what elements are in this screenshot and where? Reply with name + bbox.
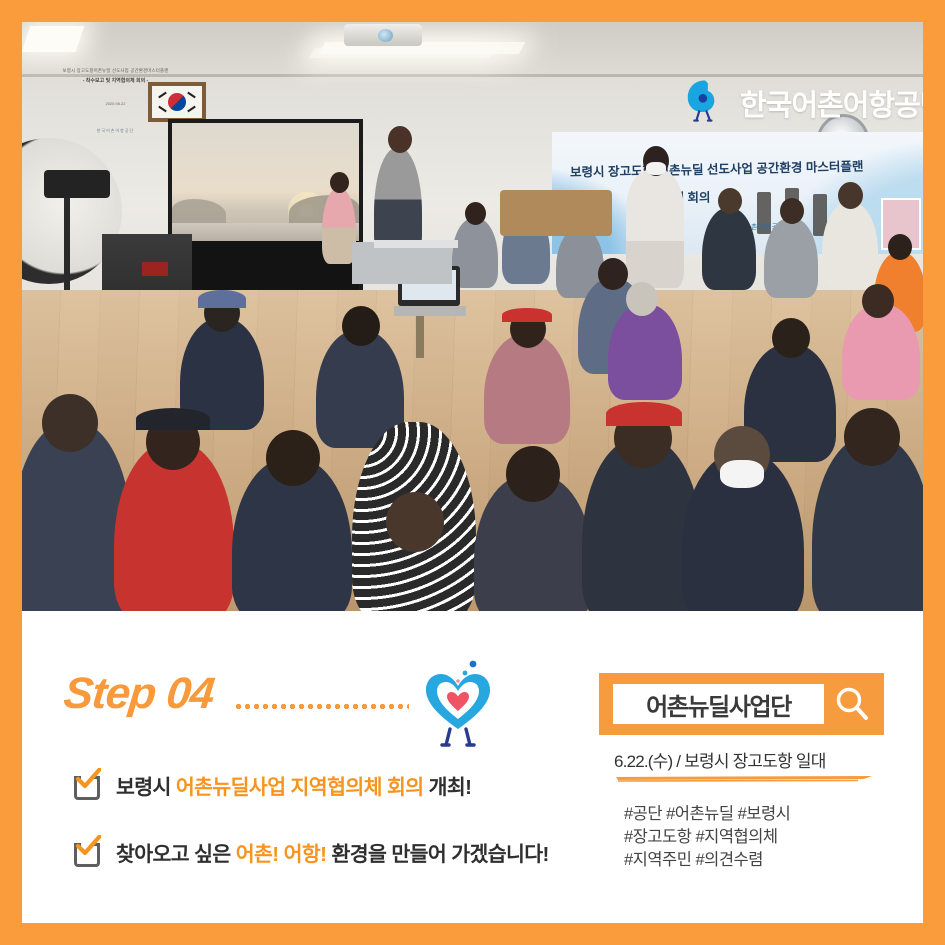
ceiling-light-mid2 bbox=[309, 48, 495, 58]
meeting-photo: 보령시 장고도항어촌뉴딜 선도사업 공간환경마스터플랜 - 착수보고 및 지역협… bbox=[22, 22, 923, 611]
cap-icon bbox=[198, 290, 246, 308]
laptop-base bbox=[394, 306, 466, 316]
bullet-item-2: 찾아오고 싶은 어촌! 어항! 환경을 만들어 가겠습니다! bbox=[72, 836, 549, 868]
search-input[interactable]: 어촌뉴딜사업단 bbox=[613, 684, 824, 724]
watermark-org-name: 한국어촌어항공단 bbox=[740, 82, 923, 124]
person-pink-shirt bbox=[322, 188, 356, 264]
korea-fisheries-logo-icon bbox=[682, 76, 728, 122]
bullet-1-part-0: 보령시 bbox=[116, 776, 176, 799]
person-head bbox=[330, 172, 349, 193]
person-seated bbox=[822, 202, 878, 288]
person-seated bbox=[702, 208, 756, 290]
poster-card: 보령시 장고도항어촌뉴딜 선도사업 공간환경마스터플랜 - 착수보고 및 지역협… bbox=[22, 22, 923, 923]
person-purple bbox=[608, 304, 682, 400]
dotted-line-divider bbox=[234, 704, 409, 709]
slide-title-line2: - 착수보고 및 지역협의체 회의 - bbox=[22, 77, 209, 84]
checkbox-checked-icon bbox=[72, 836, 102, 868]
hashtag-line-2: #장고도항 #지역협의체 bbox=[624, 826, 790, 849]
search-keyword: 어촌뉴딜사업단 bbox=[646, 687, 791, 722]
heart-character-mascot-icon bbox=[420, 659, 496, 747]
watermark-logo: 한국어촌어항공단 bbox=[674, 70, 923, 134]
ceiling-projector-icon bbox=[344, 24, 422, 46]
visor-icon bbox=[136, 408, 210, 430]
person-crowd bbox=[842, 304, 920, 400]
brush-underline-decoration bbox=[614, 773, 874, 783]
search-magnifier-icon[interactable] bbox=[834, 686, 870, 722]
person-head bbox=[388, 126, 412, 153]
bullet-text-1: 보령시 어촌뉴딜사업 지역협의체 회의 개최! bbox=[116, 770, 471, 800]
slide-title-line1: 보령시 장고도항어촌뉴딜 선도사업 공간환경마스터플랜 bbox=[22, 68, 209, 74]
step-label: Step 04 bbox=[61, 669, 216, 719]
bullet-2-part-0: 찾아오고 싶은 bbox=[116, 843, 236, 866]
bullet-item-1: 보령시 어촌뉴딜사업 지역협의체 회의 개최! bbox=[72, 769, 471, 801]
tripod-leg bbox=[416, 316, 424, 358]
table bbox=[352, 242, 452, 284]
light-head bbox=[44, 170, 110, 198]
search-bar[interactable]: 어촌뉴딜사업단 bbox=[599, 673, 884, 735]
visor-icon bbox=[502, 308, 552, 322]
bullet-2-part-2: 환경을 만들어 가겠습니다! bbox=[326, 843, 548, 866]
date-location-text: 6.22.(수) / 보령시 장고도항 일대 bbox=[614, 747, 826, 772]
face-mask-icon bbox=[720, 460, 764, 488]
ceiling-light-left bbox=[22, 26, 84, 52]
bullet-2-part-1: 어촌! 어항! bbox=[236, 843, 327, 866]
person-crowd bbox=[484, 334, 570, 444]
slide-logos: 한국어촌어항공단 bbox=[22, 128, 209, 134]
table-top bbox=[374, 240, 458, 248]
face-mask-icon bbox=[646, 162, 666, 175]
bullet-1-part-2: 개최! bbox=[423, 776, 471, 799]
slide-date: 2020.06.22 bbox=[22, 101, 209, 106]
bullet-1-part-1: 어촌뉴딜사업 지역협의체 회의 bbox=[176, 776, 424, 799]
checkbox-checked-icon bbox=[72, 769, 102, 801]
hashtag-line-1: #공단 #어촌뉴딜 #보령시 bbox=[624, 803, 790, 826]
visor-icon bbox=[606, 402, 682, 426]
bullet-text-2: 찾아오고 싶은 어촌! 어항! 환경을 만들어 가겠습니다! bbox=[116, 837, 549, 867]
person-seated bbox=[764, 218, 818, 298]
wooden-bench bbox=[500, 190, 612, 236]
hashtag-block: #공단 #어촌뉴딜 #보령시 #장고도항 #지역협의체 #지역주민 #의견수렴 bbox=[624, 803, 790, 872]
person-speaker-woman bbox=[626, 170, 684, 288]
lower-content: Step 04 보령시 어촌뉴딜사업 지역협의체 회의 개최! bbox=[22, 611, 923, 923]
hashtag-line-3: #지역주민 #의견수렴 bbox=[624, 849, 790, 872]
